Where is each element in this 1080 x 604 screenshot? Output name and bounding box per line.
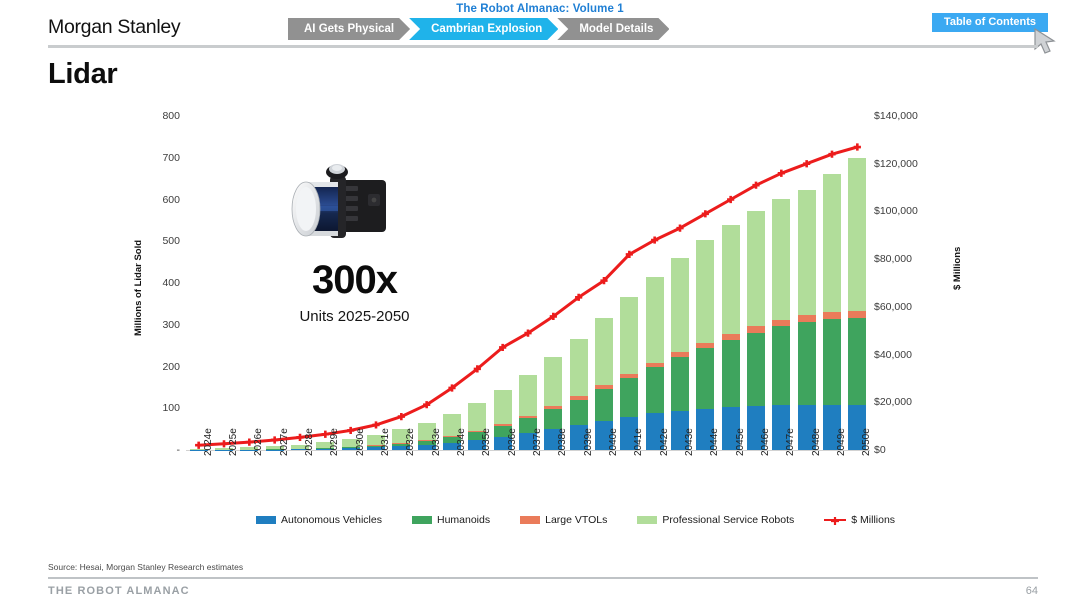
legend-swatch-icon: [637, 516, 657, 524]
x-tick-label: 2046e: [760, 428, 771, 456]
line-marker: [220, 440, 227, 447]
legend-item[interactable]: Humanoids: [412, 514, 490, 526]
bar-column: [696, 240, 714, 450]
bar-segment: [798, 322, 816, 405]
legend-label: $ Millions: [851, 514, 895, 526]
legend-swatch-icon: [412, 516, 432, 524]
y-tick-left: 600: [122, 194, 180, 206]
bar-column: [646, 277, 664, 450]
bar-segment: [595, 389, 613, 421]
slide: The Robot Almanac: Volume 1 Morgan Stanl…: [0, 0, 1080, 604]
bar-column: [823, 174, 841, 450]
y-tick-right: $140,000: [874, 110, 944, 122]
callout-subtitle: Units 2025-2050: [252, 308, 457, 325]
line-marker: [195, 442, 202, 449]
table-of-contents-button[interactable]: Table of Contents: [932, 13, 1048, 32]
morgan-stanley-logo: Morgan Stanley: [48, 16, 180, 39]
y-axis-right-label: $ Millions: [952, 247, 963, 290]
bar-column: [798, 190, 816, 450]
nav-chevron-ai-gets-physical[interactable]: AI Gets Physical: [288, 18, 410, 40]
bar-segment: [696, 348, 714, 409]
footer-brand: THE ROBOT ALMANAC: [48, 585, 190, 597]
x-tick-label: 2041e: [633, 428, 644, 456]
bar-segment: [747, 211, 765, 327]
y-axis-right-ticks: $0$20,000$40,000$60,000$80,000$100,000$1…: [874, 116, 946, 450]
legend-swatch-icon: [520, 516, 540, 524]
bar-segment: [798, 315, 816, 322]
bar-segment: [570, 339, 588, 397]
page-title: Lidar: [48, 58, 117, 91]
x-tick-label: 2047e: [785, 428, 796, 456]
legend-label: Large VTOLs: [545, 514, 607, 526]
y-tick-left: 200: [122, 361, 180, 373]
x-tick-label: 2030e: [355, 428, 366, 456]
bar-segment: [848, 318, 866, 405]
y-tick-left: 400: [122, 277, 180, 289]
x-tick-label: 2026e: [253, 428, 264, 456]
callout-statistic: 300x Units 2025-2050: [252, 260, 457, 325]
source-note: Source: Hesai, Morgan Stanley Research e…: [48, 562, 243, 572]
y-tick-left: 500: [122, 235, 180, 247]
nav-chevron-label: Cambrian Explosion: [431, 23, 542, 35]
x-tick-label: 2038e: [557, 428, 568, 456]
bar-segment: [671, 258, 689, 352]
line-marker: [372, 421, 379, 428]
bar-segment: [519, 375, 537, 416]
bar-segment: [772, 199, 790, 320]
footer-divider: [48, 577, 1038, 579]
x-tick-label: 2032e: [405, 428, 416, 456]
bar-segment: [823, 312, 841, 319]
bar-segment: [595, 318, 613, 385]
y-tick-left: 100: [122, 402, 180, 414]
y-tick-left: 300: [122, 319, 180, 331]
legend-label: Autonomous Vehicles: [281, 514, 382, 526]
x-tick-label: 2043e: [684, 428, 695, 456]
x-tick-label: 2031e: [380, 428, 391, 456]
legend-label: Professional Service Robots: [662, 514, 794, 526]
y-tick-right: $20,000: [874, 396, 944, 408]
nav-chevron-cambrian-explosion[interactable]: Cambrian Explosion: [409, 18, 558, 40]
lidar-stacked-bar-chart: Millions of Lidar Sold $ Millions -10020…: [0, 100, 1080, 520]
bar-segment: [722, 340, 740, 407]
y-tick-right: $120,000: [874, 158, 944, 170]
x-tick-label: 2045e: [735, 428, 746, 456]
x-tick-label: 2035e: [481, 428, 492, 456]
bar-segment: [722, 225, 740, 334]
y-tick-right: $40,000: [874, 349, 944, 361]
bar-segment: [848, 311, 866, 318]
bar-segment: [544, 357, 562, 406]
x-tick-label: 2036e: [507, 428, 518, 456]
nav-chevron-label: Model Details: [579, 23, 653, 35]
bar-segment: [620, 378, 638, 416]
x-tick-label: 2037e: [532, 428, 543, 456]
x-tick-label: 2042e: [659, 428, 670, 456]
page-number: 64: [1026, 585, 1038, 597]
x-tick-label: 2040e: [608, 428, 619, 456]
bar-column: [722, 225, 740, 450]
bar-segment: [646, 277, 664, 363]
bar-column: [671, 258, 689, 450]
bar-segment: [671, 357, 689, 410]
x-tick-label: 2028e: [304, 428, 315, 456]
bar-segment: [570, 400, 588, 425]
bar-segment: [772, 326, 790, 404]
bar-segment: [798, 190, 816, 315]
bar-segment: [747, 333, 765, 406]
nav-chevron-model-details[interactable]: Model Details: [557, 18, 669, 40]
y-tick-right: $80,000: [874, 253, 944, 265]
x-tick-label: 2050e: [861, 428, 872, 456]
legend-item[interactable]: Large VTOLs: [520, 514, 607, 526]
line-marker: [246, 439, 253, 446]
x-tick-label: 2039e: [583, 428, 594, 456]
section-nav[interactable]: AI Gets PhysicalCambrian ExplosionModel …: [288, 18, 668, 40]
bar-segment: [823, 174, 841, 312]
y-tick-left: 800: [122, 110, 180, 122]
bar-column: [772, 199, 790, 450]
y-tick-left: 700: [122, 152, 180, 164]
deck-title: The Robot Almanac: Volume 1: [0, 3, 1080, 15]
bar-segment: [696, 240, 714, 342]
x-tick-label: 2048e: [811, 428, 822, 456]
bar-column: [848, 158, 866, 450]
bar-segment: [823, 319, 841, 405]
bar-segment: [646, 367, 664, 413]
line-marker: [347, 427, 354, 434]
bar-segment: [620, 297, 638, 373]
lidar-sensor-photo: [280, 162, 406, 254]
callout-figure: 300x: [252, 260, 457, 300]
bar-segment: [468, 403, 486, 431]
bar-segment: [544, 409, 562, 429]
legend-item[interactable]: $ Millions: [824, 514, 895, 526]
y-tick-right: $100,000: [874, 205, 944, 217]
line-marker: [322, 431, 329, 438]
x-tick-label: 2049e: [836, 428, 847, 456]
line-marker: [271, 436, 278, 443]
line-marker: [854, 143, 861, 150]
legend-swatch-icon: [256, 516, 276, 524]
y-tick-left: -: [122, 444, 180, 456]
bar-segment: [848, 158, 866, 311]
bar-segment: [494, 390, 512, 424]
x-tick-label: 2027e: [279, 428, 290, 456]
chart-legend: Autonomous VehiclesHumanoidsLarge VTOLsP…: [256, 514, 895, 526]
x-tick-label: 2029e: [329, 428, 340, 456]
legend-label: Humanoids: [437, 514, 490, 526]
bar-column: [747, 211, 765, 450]
legend-item[interactable]: Autonomous Vehicles: [256, 514, 382, 526]
x-tick-label: 2044e: [709, 428, 720, 456]
y-tick-right: $60,000: [874, 301, 944, 313]
nav-chevron-label: AI Gets Physical: [304, 23, 394, 35]
x-tick-label: 2033e: [431, 428, 442, 456]
y-tick-right: $0: [874, 444, 944, 456]
line-marker: [296, 434, 303, 441]
x-tick-label: 2024e: [203, 428, 214, 456]
header-divider: [48, 45, 1038, 48]
mouse-cursor-icon: [1032, 27, 1066, 57]
x-tick-label: 2034e: [456, 428, 467, 456]
x-tick-label: 2025e: [228, 428, 239, 456]
legend-item[interactable]: Professional Service Robots: [637, 514, 794, 526]
legend-line-icon: [824, 516, 846, 525]
y-axis-left-ticks: -100200300400500600700800: [108, 116, 180, 450]
